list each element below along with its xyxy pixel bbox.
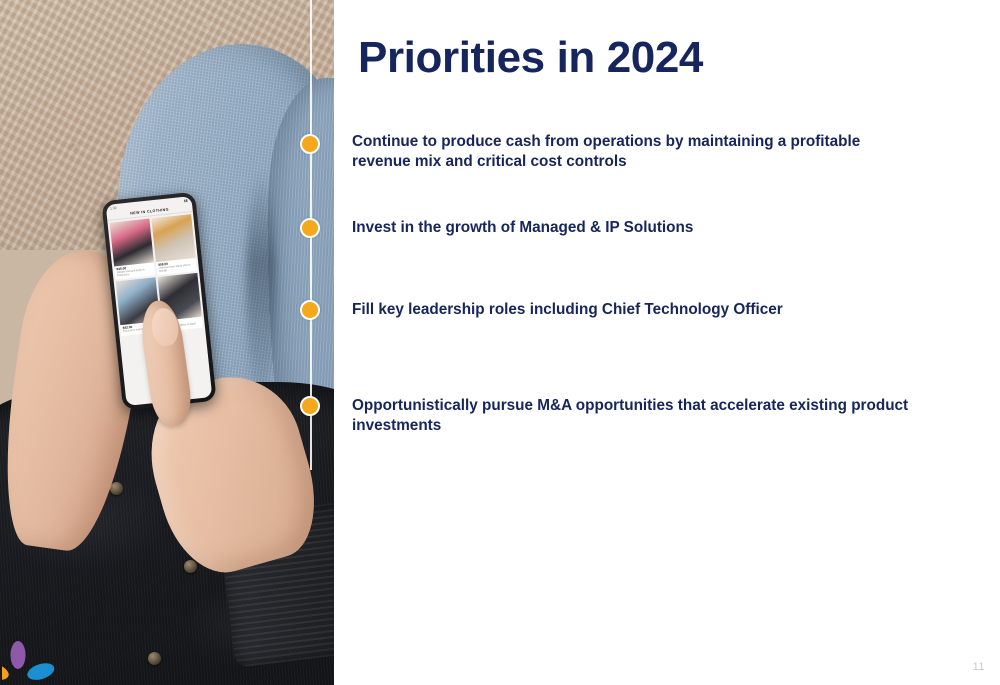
bullet-marker-2 [300,218,320,238]
photo-shirt-button-2 [184,560,197,573]
bullet-marker-3 [300,300,320,320]
petal-orange [2,660,11,683]
slide-canvas: 1:32 ▮▮ NEW IN CLOTHING $35.00 Ribbed kn… [0,0,1000,685]
hero-photo: 1:32 ▮▮ NEW IN CLOTHING $35.00 Ribbed kn… [0,0,334,685]
bullet-marker-1 [300,134,320,154]
bullet-item-1: Continue to produce cash from operations… [352,132,912,172]
slide-content: Priorities in 2024 Continue to produce c… [350,0,1000,685]
photo-shirt-button-3 [148,652,161,665]
phone-product-card: $35.00 Ribbed knit tank body in black/iv… [110,219,156,280]
bullet-item-4: Opportunistically pursue M&A opportuniti… [352,396,932,436]
petal-blue [25,660,56,683]
flower-petal-logo [2,629,60,685]
phone-product-image [110,219,154,267]
bullet-item-3: Fill key leadership roles including Chie… [352,300,783,320]
photo-jeans-crease [246,170,276,400]
phone-status-icons: ▮▮ [184,198,188,202]
phone-status-time: 1:32 [110,206,117,211]
page-title: Priorities in 2024 [358,36,703,80]
bullet-marker-4 [300,396,320,416]
phone-product-image [151,214,195,262]
petal-purple [11,641,26,669]
phone-product-card: $58.00 Oversize linen-blend shirt in ora… [151,214,197,275]
photo-shirt-button-1 [110,482,123,495]
page-number: 11 [973,661,985,673]
bullet-item-2: Invest in the growth of Managed & IP Sol… [352,218,693,238]
